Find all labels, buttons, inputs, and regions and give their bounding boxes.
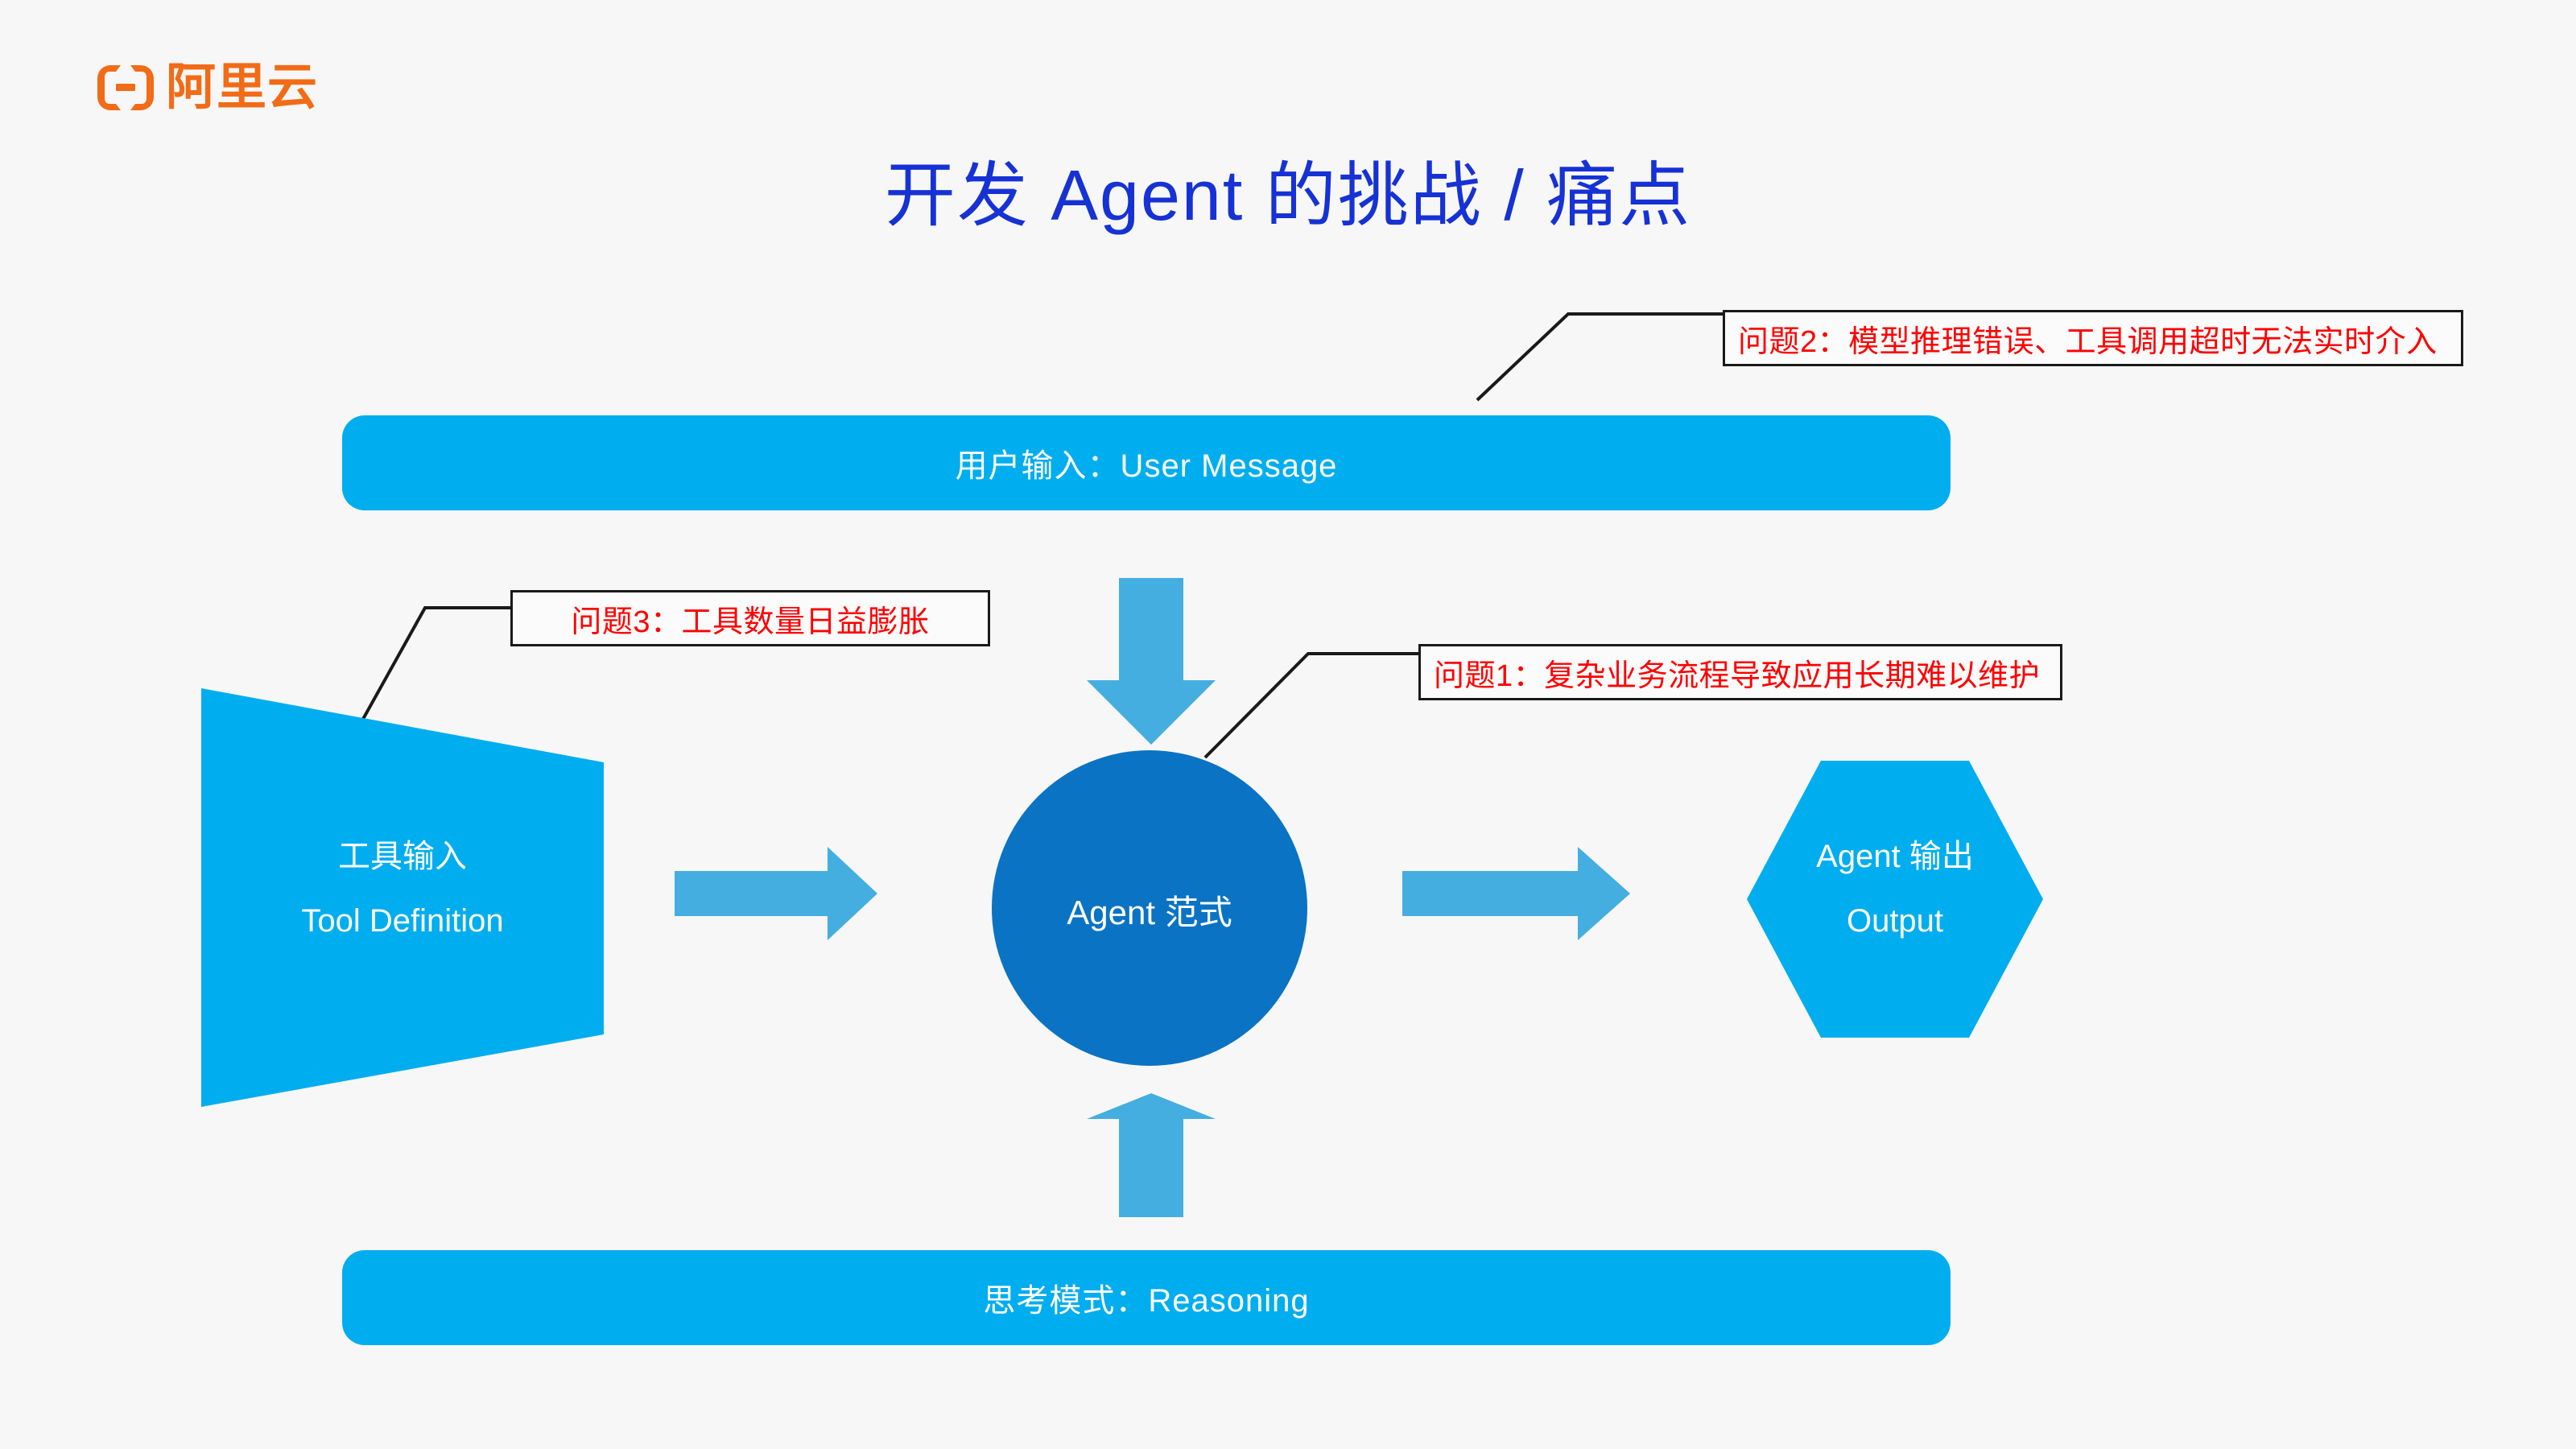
arrow-agent-to-output [1402, 847, 1630, 940]
arrow-user-input-to-agent [1087, 578, 1216, 745]
slide-canvas: 阿里云 开发 Agent 的挑战 / 痛点 用户输入：User Message … [0, 0, 2576, 1449]
note-problem-3-text: 问题3：工具数量日益膨胀 [571, 597, 929, 641]
note-problem-2: 问题2：模型推理错误、工具调用超时无法实时介入 [1723, 310, 2463, 366]
page-title: 开发 Agent 的挑战 / 痛点 [0, 159, 2576, 233]
bar-reasoning: 思考模式：Reasoning [342, 1250, 1951, 1345]
shape-tool-input [201, 688, 604, 1107]
note-problem-2-text: 问题2：模型推理错误、工具调用超时无法实时介入 [1738, 316, 2438, 361]
bar-user-input: 用户输入：User Message [342, 415, 1951, 510]
alibaba-cloud-logo-text: 阿里云 [166, 63, 318, 113]
leader-line-note-2 [1477, 314, 1723, 400]
leader-line-note-1 [1205, 654, 1418, 758]
note-problem-1-text: 问题1：复杂业务流程导致应用长期难以维护 [1434, 650, 2040, 695]
agent-paradigm-label: Agent 范式 [992, 885, 1307, 935]
alibaba-cloud-logo: 阿里云 [97, 63, 318, 113]
arrow-tool-to-agent [675, 847, 877, 940]
shape-agent-output [1747, 761, 2043, 1038]
bar-reasoning-label: 思考模式：Reasoning [983, 1274, 1309, 1321]
alibaba-cloud-bracket-icon [97, 64, 155, 112]
note-problem-3: 问题3：工具数量日益膨胀 [510, 590, 990, 646]
arrow-reasoning-to-agent [1087, 1093, 1216, 1217]
note-problem-1: 问题1：复杂业务流程导致应用长期难以维护 [1418, 644, 2062, 700]
bar-user-input-label: 用户输入：User Message [956, 440, 1338, 486]
